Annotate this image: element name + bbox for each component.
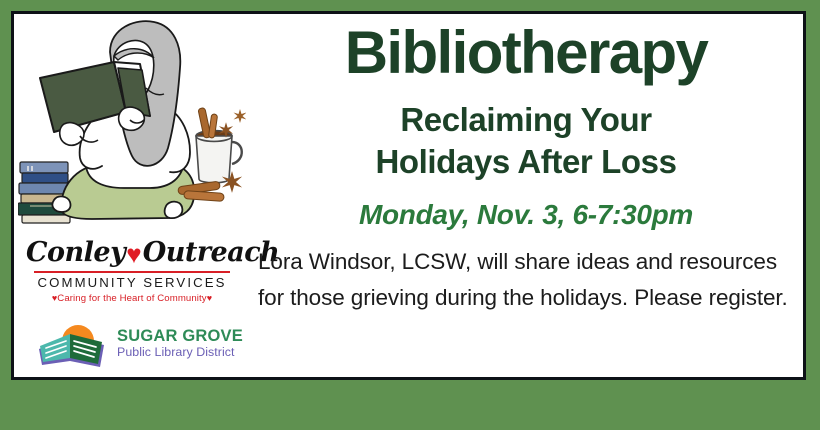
heart-icon: ♥ [126,237,141,271]
reading-woman-illustration [18,16,246,238]
conley-logo-tagline-row: ♥Caring for the Heart of Community♥ [26,291,238,306]
conley-logo-wordmark: Conley♥Outreach [26,236,238,270]
conley-logo-divider [34,271,230,273]
conley-logo-subtitle: COMMUNITY SERVICES [26,275,238,291]
sugar-grove-logo-text: SUGAR GROVE Public Library District [117,328,243,359]
sugar-grove-logo-description: Public Library District [117,346,243,358]
conley-logo-name-part1: Conley [26,237,125,268]
poster-canvas: Conley♥Outreach COMMUNITY SERVICES ♥Cari… [0,0,820,430]
open-book-sun-icon [36,317,110,369]
page-title: Bibliotherapy [256,22,796,84]
event-datetime: Monday, Nov. 3, 6-7:30pm [256,197,796,233]
page-subtitle-line-2: Holidays After Loss [256,141,796,183]
poster-card: Conley♥Outreach COMMUNITY SERVICES ♥Cari… [11,11,806,380]
left-column: Conley♥Outreach COMMUNITY SERVICES ♥Cari… [14,14,250,377]
event-description: Lora Windsor, LCSW, will share ideas and… [258,244,804,316]
page-subtitle: Reclaiming Your Holidays After Loss [256,99,796,183]
right-column: Bibliotherapy Reclaiming Your Holidays A… [250,14,803,377]
sugar-grove-library-logo: SUGAR GROVE Public Library District [36,314,242,372]
conley-logo-tagline: Caring for the Heart of Community [57,293,206,304]
conley-outreach-logo: Conley♥Outreach COMMUNITY SERVICES ♥Cari… [26,236,238,310]
heart-icon-right: ♥ [207,293,212,303]
page-subtitle-line-1: Reclaiming Your [256,99,796,141]
sugar-grove-logo-name: SUGAR GROVE [117,328,243,345]
